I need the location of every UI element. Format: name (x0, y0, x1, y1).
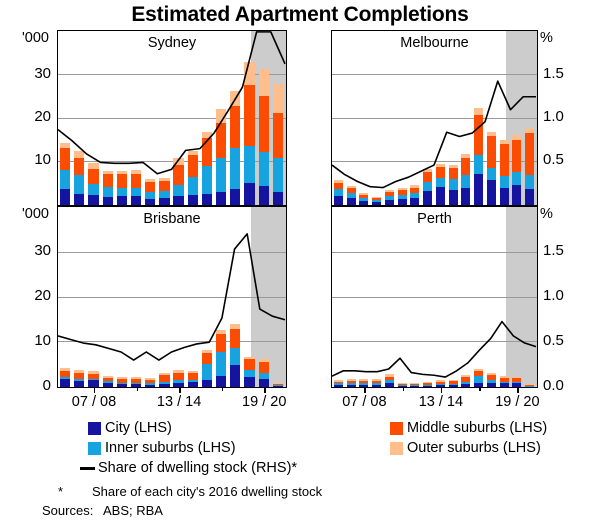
x-tick-mark-minor (403, 388, 405, 391)
plot-area-sydney: Sydney (58, 31, 286, 205)
y-tick-label-right: 1.5 (543, 242, 564, 259)
x-tick-label: 07 / 08 (54, 394, 134, 410)
plot-area-perth: Perth (332, 207, 537, 387)
x-tick-label: 13 / 14 (401, 394, 481, 410)
x-tick-mark-minor (479, 388, 481, 391)
share-line-sydney (58, 31, 285, 204)
x-tick-mark (179, 388, 181, 393)
legend-swatch (390, 442, 403, 455)
y-tick-label-right: 0.5 (543, 151, 564, 168)
panel-title-brisbane: Brisbane (58, 211, 286, 227)
right-axis-unit-top: % (540, 30, 553, 46)
bar-segment-city (525, 386, 534, 387)
plot-area-brisbane: Brisbane (58, 207, 286, 387)
legend-label: Outer suburbs (LHS) (407, 440, 541, 456)
y-tick-label-left: 0 (9, 377, 51, 394)
legend-middle-suburbs[interactable]: Middle suburbs (LHS) (390, 420, 547, 436)
y-tick-label-right: 1.0 (543, 108, 564, 125)
x-tick-mark (517, 388, 519, 393)
y-tick-label-right: 0.0 (543, 377, 564, 394)
y-tick-label-left: 30 (9, 65, 51, 82)
plot-area-melbourne: Melbourne (332, 31, 537, 205)
legend-outer-suburbs[interactable]: Outer suburbs (LHS) (390, 440, 541, 456)
bar-segment-city (273, 386, 283, 387)
left-axis-unit-bottom: '000 (22, 206, 49, 222)
sources-label: Sources: (42, 503, 93, 518)
y-tick-label-left: 30 (9, 242, 51, 259)
x-tick-label: 19 / 20 (224, 394, 304, 410)
legend-line-marker (80, 467, 95, 470)
x-tick-label: 13 / 14 (139, 394, 219, 410)
share-line-brisbane (58, 207, 285, 386)
y-tick-label-right: 0.5 (543, 332, 564, 349)
x-tick-mark (364, 388, 366, 393)
legend-swatch (88, 422, 101, 435)
legend-label: Inner suburbs (LHS) (105, 440, 236, 456)
panel-title-sydney: Sydney (58, 35, 286, 51)
page-title: Estimated Apartment Completions (0, 3, 600, 27)
y-tick-label-left: 10 (9, 332, 51, 349)
legend-inner-suburbs[interactable]: Inner suburbs (LHS) (88, 440, 236, 456)
sources-text: ABS; RBA (103, 503, 163, 518)
legend-share-of-dwelling-stock[interactable]: Share of dwelling stock (RHS)* (80, 460, 297, 476)
legend-label: Middle suburbs (LHS) (407, 420, 547, 436)
share-line-perth (332, 207, 536, 386)
chart-root: Estimated Apartment Completions '000 '00… (0, 0, 600, 527)
x-tick-label: 19 / 20 (477, 394, 557, 410)
panel-melbourne: Melbourne (331, 30, 538, 206)
footnote-marker: * (58, 484, 63, 499)
share-line-melbourne (332, 31, 536, 204)
x-tick-mark-minor (137, 388, 139, 391)
y-tick-label-left: 20 (9, 287, 51, 304)
y-tick-label-left: 20 (9, 108, 51, 125)
panel-sydney: Sydney (57, 30, 287, 206)
y-tick-label-right: 1.0 (543, 287, 564, 304)
x-tick-mark (94, 388, 96, 393)
x-tick-mark (441, 388, 443, 393)
x-tick-mark-minor (222, 388, 224, 391)
panel-title-melbourne: Melbourne (332, 35, 537, 51)
legend-city[interactable]: City (LHS) (88, 420, 172, 436)
legend-label: Share of dwelling stock (RHS)* (98, 460, 297, 476)
legend-label: City (LHS) (105, 420, 172, 436)
x-tick-label: 07 / 08 (324, 394, 404, 410)
y-tick-label-left: 10 (9, 151, 51, 168)
legend-swatch (88, 442, 101, 455)
footnote-text: Share of each city's 2016 dwelling stock (92, 484, 322, 499)
x-tick-mark (264, 388, 266, 393)
right-axis-unit-bottom: % (540, 206, 553, 222)
legend-swatch (390, 422, 403, 435)
y-tick-label-right: 1.5 (543, 65, 564, 82)
panel-brisbane: Brisbane (57, 206, 287, 388)
left-axis-unit-top: '000 (22, 30, 49, 46)
panel-perth: Perth (331, 206, 538, 388)
panel-title-perth: Perth (332, 211, 537, 227)
